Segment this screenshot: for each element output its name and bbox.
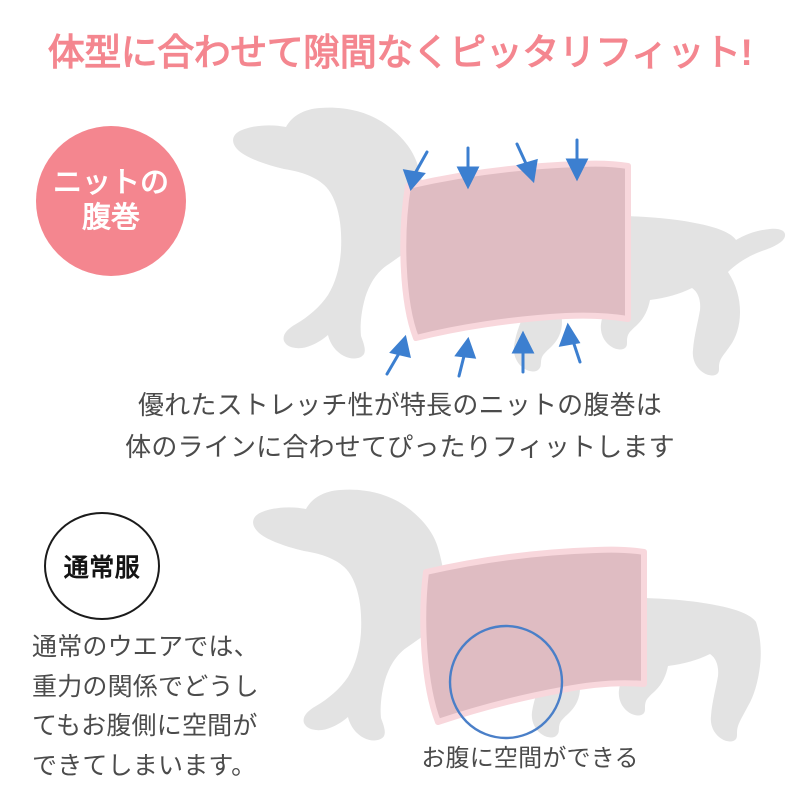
badge-normal-wear: 通常服 <box>44 512 160 620</box>
badge-knit-belly-band: ニットの 腹巻 <box>36 126 186 276</box>
caption-knit-line2: 体のラインに合わせてぴったりフィットします <box>0 426 800 468</box>
infographic-page: 体型に合わせて隙間なくピッタリフィット! ニットの 腹巻 <box>0 0 800 800</box>
garment-knit-wrap <box>403 164 628 338</box>
page-title: 体型に合わせて隙間なくピッタリフィット! <box>0 22 800 76</box>
arrow-up-1 <box>387 338 409 374</box>
caption-normal-line2: 重力の関係でどうし <box>32 668 312 708</box>
caption-normal-line1: 通常のウエアでは、 <box>32 628 312 668</box>
garment-normal-wear <box>423 550 644 722</box>
arrow-up-2 <box>457 340 474 376</box>
arrow-up-4 <box>561 326 580 362</box>
caption-normal-line3: てもお腹側に空間が <box>32 707 312 747</box>
caption-gap-label: お腹に空間ができる <box>330 738 730 773</box>
caption-knit-description: 優れたストレッチ性が特長のニットの腹巻は 体のラインに合わせてぴったりフィットし… <box>0 384 800 468</box>
badge-knit-line2: 腹巻 <box>82 201 140 236</box>
caption-knit-line1: 優れたストレッチ性が特長のニットの腹巻は <box>0 384 800 426</box>
caption-normal-description: 通常のウエアでは、 重力の関係でどうし てもお腹側に空間が できてしまいます。 <box>32 628 312 786</box>
illustration-knit-fit <box>180 104 800 384</box>
caption-normal-line4: できてしまいます。 <box>32 747 312 787</box>
badge-knit-line1: ニットの <box>53 166 169 201</box>
